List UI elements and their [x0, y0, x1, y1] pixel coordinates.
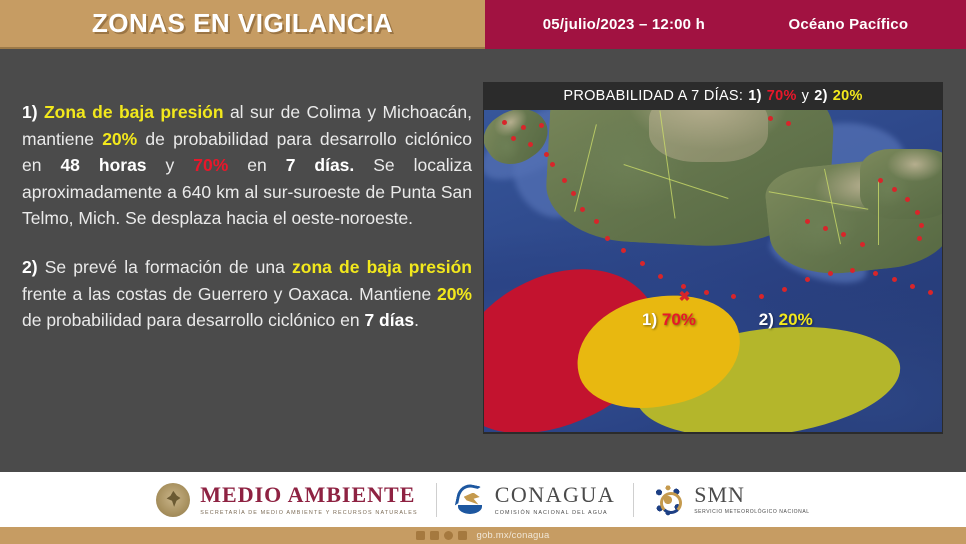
text-run: zona de baja presión [292, 257, 472, 277]
text-run: Se prevé la formación de una [45, 257, 292, 277]
text-run: Zona de baja presión [44, 102, 224, 122]
header-bar: ZONAS EN VIGILANCIA 05/julio/2023 – 12:0… [0, 0, 966, 49]
medio-ambiente-title: MEDIO AMBIENTE [200, 484, 417, 506]
conagua-subtitle: COMISIÓN NACIONAL DEL AGUA [495, 510, 616, 516]
social-bottom-bar: gob.mx/conagua [0, 527, 966, 544]
text-run: en [228, 155, 285, 175]
conagua-wave-eagle-icon [455, 484, 485, 516]
mexican-eagle-emblem-icon [156, 483, 190, 517]
banner-item1-value: 70% [767, 88, 797, 104]
zone-1-value: 70% [662, 310, 696, 329]
zone-2-num: 2) [759, 310, 774, 329]
header-title-container: ZONAS EN VIGILANCIA [0, 0, 485, 49]
text-run: 48 horas [60, 155, 146, 175]
zone-1-label: 1) 70% [642, 310, 696, 330]
text-run: y [147, 155, 194, 175]
zone-2-label: 2) 20% [759, 310, 813, 330]
text-run: frente a las costas de Guerrero y Oaxaca… [22, 284, 437, 304]
smn-subtitle: SERVICIO METEOROLÓGICO NACIONAL [694, 509, 809, 516]
conagua-url[interactable]: gob.mx/conagua [476, 530, 549, 541]
banner-item1-num: 1) [748, 88, 762, 104]
text-run: 20% [102, 129, 137, 149]
low-pressure-center-marker: ✖ [679, 289, 691, 303]
content-area: 1) Zona de baja presión al sur de Colima… [0, 49, 966, 472]
logo-medio-ambiente: MEDIO AMBIENTE SECRETARÍA DE MEDIO AMBIE… [138, 483, 435, 517]
page-title: ZONAS EN VIGILANCIA [92, 8, 393, 39]
basin-label: Océano Pacífico [789, 16, 909, 33]
map-canvas[interactable]: ✖ 1) 70% 2) 20% [484, 110, 942, 432]
conagua-title: CONAGUA [495, 484, 616, 506]
text-run: 1) [22, 102, 44, 122]
issue-datetime: 05/julio/2023 – 12:00 h [543, 16, 705, 33]
footer-logos: MEDIO AMBIENTE SECRETARÍA DE MEDIO AMBIE… [0, 472, 966, 527]
logo-conagua: CONAGUA COMISIÓN NACIONAL DEL AGUA [437, 484, 634, 516]
medio-ambiente-subtitle: SECRETARÍA DE MEDIO AMBIENTE Y RECURSOS … [200, 510, 417, 516]
advisory-text-column: 1) Zona de baja presión al sur de Colima… [22, 99, 472, 334]
youtube-icon[interactable] [458, 531, 467, 540]
text-run: de probabilidad para desarrollo ciclónic… [22, 310, 364, 330]
zone-2-value: 20% [779, 310, 813, 329]
facebook-icon[interactable] [416, 531, 425, 540]
map-probability-banner: PROBABILIDAD A 7 DÍAS: 1) 70% y 2) 20% [483, 82, 943, 110]
advisory-paragraph-1: 1) Zona de baja presión al sur de Colima… [22, 99, 472, 232]
text-run: 20% [437, 284, 472, 304]
text-run: 2) [22, 257, 45, 277]
text-run: 7 días. [286, 155, 355, 175]
zone-1-num: 1) [642, 310, 657, 329]
map-panel: PROBABILIDAD A 7 DÍAS: 1) 70% y 2) 20% [483, 82, 943, 434]
advisory-paragraph-2: 2) Se prevé la formación de una zona de … [22, 254, 472, 334]
header-meta-container: 05/julio/2023 – 12:00 h Océano Pacífico [485, 0, 966, 49]
instagram-icon[interactable] [444, 531, 453, 540]
twitter-icon[interactable] [430, 531, 439, 540]
smn-title: SMN [694, 484, 809, 506]
text-run: 70% [193, 155, 228, 175]
banner-item2-value: 20% [833, 88, 863, 104]
banner-conjunction: y [802, 88, 810, 104]
logo-smn: SMN SERVICIO METEOROLÓGICO NACIONAL [634, 484, 827, 516]
smn-spiral-icon [652, 484, 684, 516]
banner-item2-num: 2) [814, 88, 828, 104]
text-run: 7 días [364, 310, 414, 330]
text-run: . [414, 310, 419, 330]
banner-label: PROBABILIDAD A 7 DÍAS: [563, 88, 743, 104]
